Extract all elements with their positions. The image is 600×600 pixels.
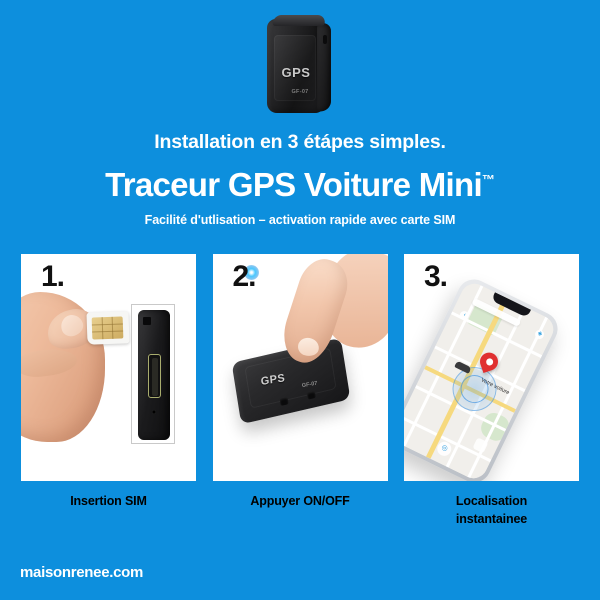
headline-text: Traceur GPS Voiture Mini: [105, 166, 482, 203]
trademark-symbol: ™: [482, 172, 495, 187]
step-caption-3-line1: Localisation: [404, 492, 579, 510]
device-top-face: [272, 15, 325, 26]
phone-screen: Votre voiture ◈ ‹ ◎: [404, 279, 558, 481]
step-number-1: 1.: [41, 260, 64, 294]
device-top-port: [143, 317, 151, 325]
step-caption-1: Insertion SIM: [21, 492, 196, 528]
website-url: maisonrenee.com: [20, 564, 143, 581]
promo-infographic: { "theme": { "background": "#0d8fdd", "c…: [0, 0, 600, 600]
step-number-3: 3.: [424, 260, 447, 294]
subtitle-text: Facilité d'utlisation – activation rapid…: [0, 213, 600, 227]
steps-row: 1. 2. GPS GF-07: [21, 254, 579, 481]
device-model-label: GF-07: [283, 89, 317, 95]
sim-slot-opening: [152, 358, 158, 396]
hero-product-image: GPS GF-07: [0, 0, 600, 125]
sim-chip-icon: [92, 316, 124, 339]
step-caption-3: Localisation instantainee: [404, 492, 579, 528]
device-side-port: [323, 35, 327, 44]
gps-tracker-device-hero: GPS GF-07: [267, 13, 333, 113]
device-photo-frame: [131, 304, 175, 444]
step-number-2: 2.: [233, 260, 256, 294]
step-card-3: 3. V: [404, 254, 579, 481]
step-card-1: 1.: [21, 254, 196, 481]
step-caption-2: Appuyer ON/OFF: [213, 492, 388, 528]
device-reset-hole: [152, 410, 156, 414]
sim-slot-icon: [148, 354, 161, 398]
title-block: Installation en 3 étápes simples. Traceu…: [0, 125, 600, 227]
device-gps-label: GPS: [276, 65, 316, 80]
page-title: Traceur GPS Voiture Mini™: [0, 166, 600, 204]
sim-chip-contacts: [102, 317, 104, 339]
sim-card-icon: [86, 311, 129, 344]
smartphone-mockup: Votre voiture ◈ ‹ ◎: [404, 274, 563, 481]
device-port-right: [306, 391, 315, 400]
device-port-left: [279, 397, 288, 406]
step-caption-3-line2: instantainee: [404, 510, 579, 528]
kicker-text: Installation en 3 étápes simples.: [0, 131, 600, 154]
device-side-view: [138, 310, 170, 440]
step-card-2: 2. GPS GF-07: [213, 254, 388, 481]
captions-row: Insertion SIM Appuyer ON/OFF Localisatio…: [21, 492, 579, 528]
